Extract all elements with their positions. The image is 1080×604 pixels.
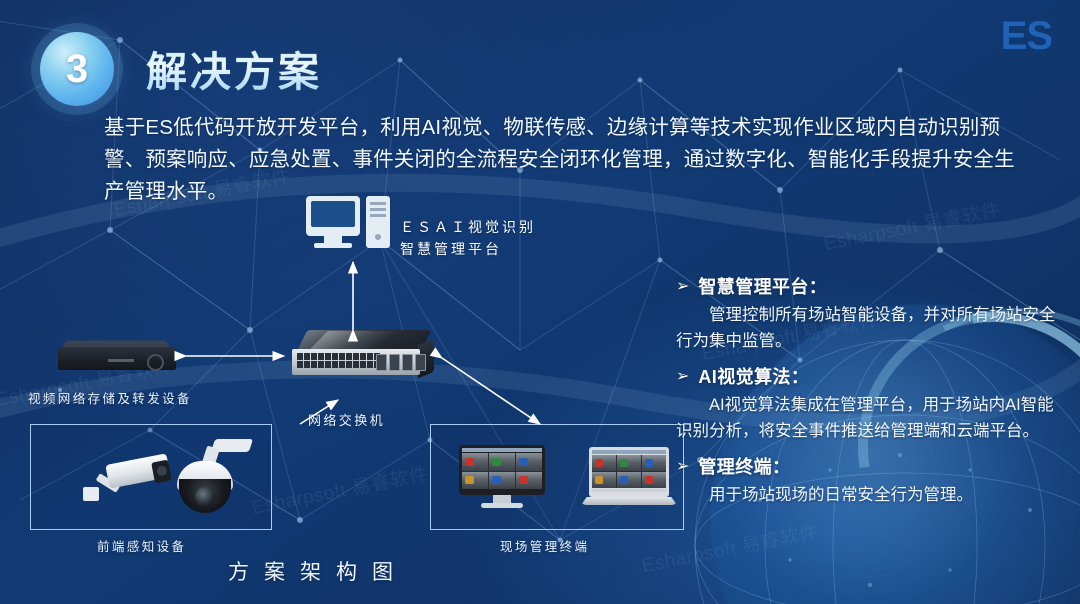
platform-label-line1: ＥＳＡＩ视觉识别	[400, 216, 536, 238]
tower-power-dot	[375, 234, 381, 240]
bullet-arrow-icon: ➢	[676, 365, 689, 389]
site-terminals-label: 现场管理终端	[500, 536, 589, 555]
switch-sfp-ports	[376, 354, 426, 371]
es-logo: ES	[1001, 14, 1052, 59]
desktop-monitor-icon	[459, 445, 545, 511]
switch-ports	[297, 353, 380, 368]
benefits-panel: ➢ 智慧管理平台： 管理控制所有场站智能设备，并对所有场站安全行为集中监管。 ➢…	[676, 275, 1066, 519]
monitor-base	[314, 243, 352, 248]
ptz-dome-camera-icon	[171, 439, 257, 515]
slide-canvas: Esharpsoft 易睿软件 Esharpsoft 易睿软件 Esharpso…	[0, 0, 1080, 604]
monitor-icon	[306, 196, 360, 236]
platform-label: ＥＳＡＩ视觉识别 智慧管理平台	[400, 216, 536, 260]
site-terminals-box	[430, 424, 684, 530]
platform-computer-icon	[306, 196, 390, 250]
bullet-title-3: 管理终端：	[698, 455, 790, 479]
switch-label: 网络交换机	[308, 410, 385, 429]
bullet-arrow-icon: ➢	[676, 455, 689, 479]
bullet-item-2: ➢ AI视觉算法：	[676, 365, 1066, 389]
front-end-devices-label: 前端感知设备	[97, 536, 186, 555]
bullet-body-2: AI视觉算法集成在管理平台，用于场站内AI智能识别分析，将安全事件推送给管理端和…	[676, 392, 1066, 444]
tower-icon	[366, 196, 390, 248]
bullet-item-3: ➢ 管理终端：	[676, 455, 1066, 479]
nvr-device-icon	[58, 340, 176, 374]
bullet-camera-icon	[83, 453, 179, 511]
watermark: Esharpsoft 易睿软件	[249, 459, 430, 520]
page-title: 解决方案	[146, 38, 322, 98]
monitor-stand	[324, 236, 342, 243]
intro-paragraph: 基于ES低代码开放开发平台，利用AI视觉、物联传感、边缘计算等技术实现作业区域内…	[104, 112, 1024, 208]
nvr-indicator	[108, 359, 134, 362]
bullet-title-2: AI视觉算法：	[698, 365, 809, 389]
bullet-title-1: 智慧管理平台：	[698, 275, 827, 299]
section-number-badge: 3	[40, 32, 114, 106]
bullet-arrow-icon: ➢	[676, 275, 689, 299]
switch-front	[292, 349, 420, 375]
bullet-item-1: ➢ 智慧管理平台：	[676, 275, 1066, 299]
bullet-body-1: 管理控制所有场站智能设备，并对所有场站安全行为集中监管。	[676, 302, 1066, 354]
platform-label-line2: 智慧管理平台	[400, 238, 536, 260]
nvr-label: 视频网络存储及转发设备	[28, 388, 192, 407]
bullet-body-3: 用于场站现场的日常安全行为管理。	[676, 482, 1066, 508]
diagram-caption: 方案架构图	[228, 556, 408, 586]
front-end-devices-box	[30, 424, 272, 530]
section-number: 3	[66, 49, 88, 89]
network-switch-icon	[292, 330, 434, 392]
nvr-body	[58, 347, 176, 370]
laptop-icon	[581, 447, 677, 511]
